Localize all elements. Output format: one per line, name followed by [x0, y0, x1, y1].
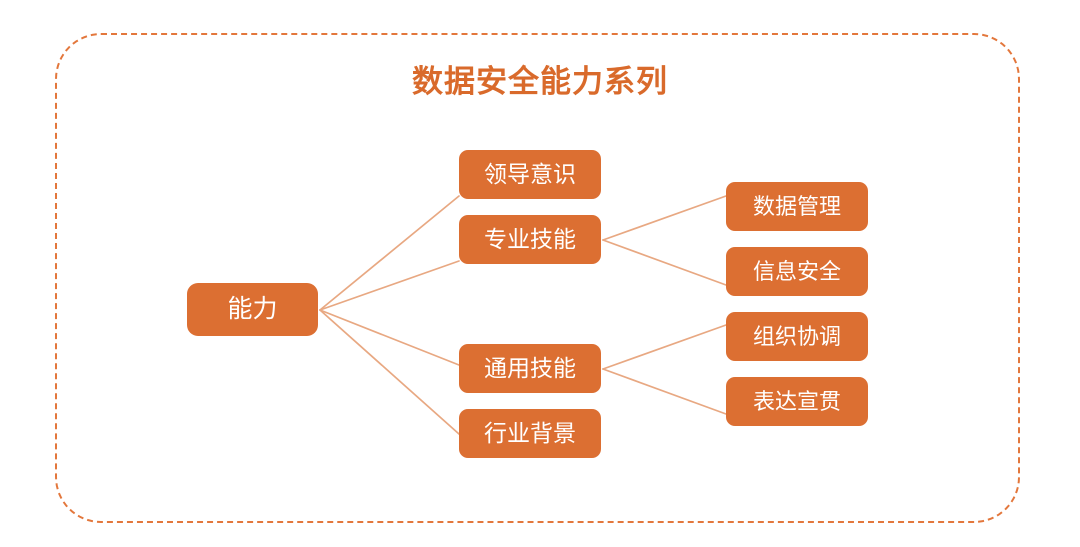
node-information-security[interactable]: 信息安全: [726, 247, 868, 296]
node-expression-communication[interactable]: 表达宣贯: [726, 377, 868, 426]
node-leadership-awareness-label: 领导意识: [484, 163, 576, 186]
connector-root-to-lingdaoyishi: [320, 196, 459, 310]
node-expression-communication-label: 表达宣贯: [753, 391, 841, 413]
node-industry-background[interactable]: 行业背景: [459, 409, 601, 458]
connector-root-to-tongyongjineng: [320, 310, 459, 365]
connector-root-to-hangyebeijing: [320, 310, 459, 434]
node-root-capability[interactable]: 能力: [187, 283, 318, 336]
node-organizational-coordination[interactable]: 组织协调: [726, 312, 868, 361]
node-information-security-label: 信息安全: [753, 261, 841, 283]
connector-tongyong-to-biaodaxuanguan: [603, 369, 726, 414]
node-professional-skills[interactable]: 专业技能: [459, 215, 601, 264]
connector-zhuanye-to-xinxianquan: [603, 240, 726, 285]
node-data-management-label: 数据管理: [753, 196, 841, 218]
node-leadership-awareness[interactable]: 领导意识: [459, 150, 601, 199]
connector-tongyong-to-zuzhixietiao: [603, 325, 726, 369]
node-industry-background-label: 行业背景: [484, 422, 576, 445]
connector-lines-layer: [0, 0, 1080, 547]
node-organizational-coordination-label: 组织协调: [753, 326, 841, 348]
node-general-skills-label: 通用技能: [484, 357, 576, 380]
node-root-capability-label: 能力: [227, 297, 277, 322]
connector-zhuanye-to-shujuguanli: [603, 196, 726, 240]
node-professional-skills-label: 专业技能: [484, 228, 576, 251]
diagram-canvas: 数据安全能力系列 能力 领导意识 专业技能 通用技能 行业背景 数据管理: [0, 0, 1080, 547]
node-general-skills[interactable]: 通用技能: [459, 344, 601, 393]
node-data-management[interactable]: 数据管理: [726, 182, 868, 231]
connector-root-to-zhuanyejineng: [320, 261, 459, 310]
